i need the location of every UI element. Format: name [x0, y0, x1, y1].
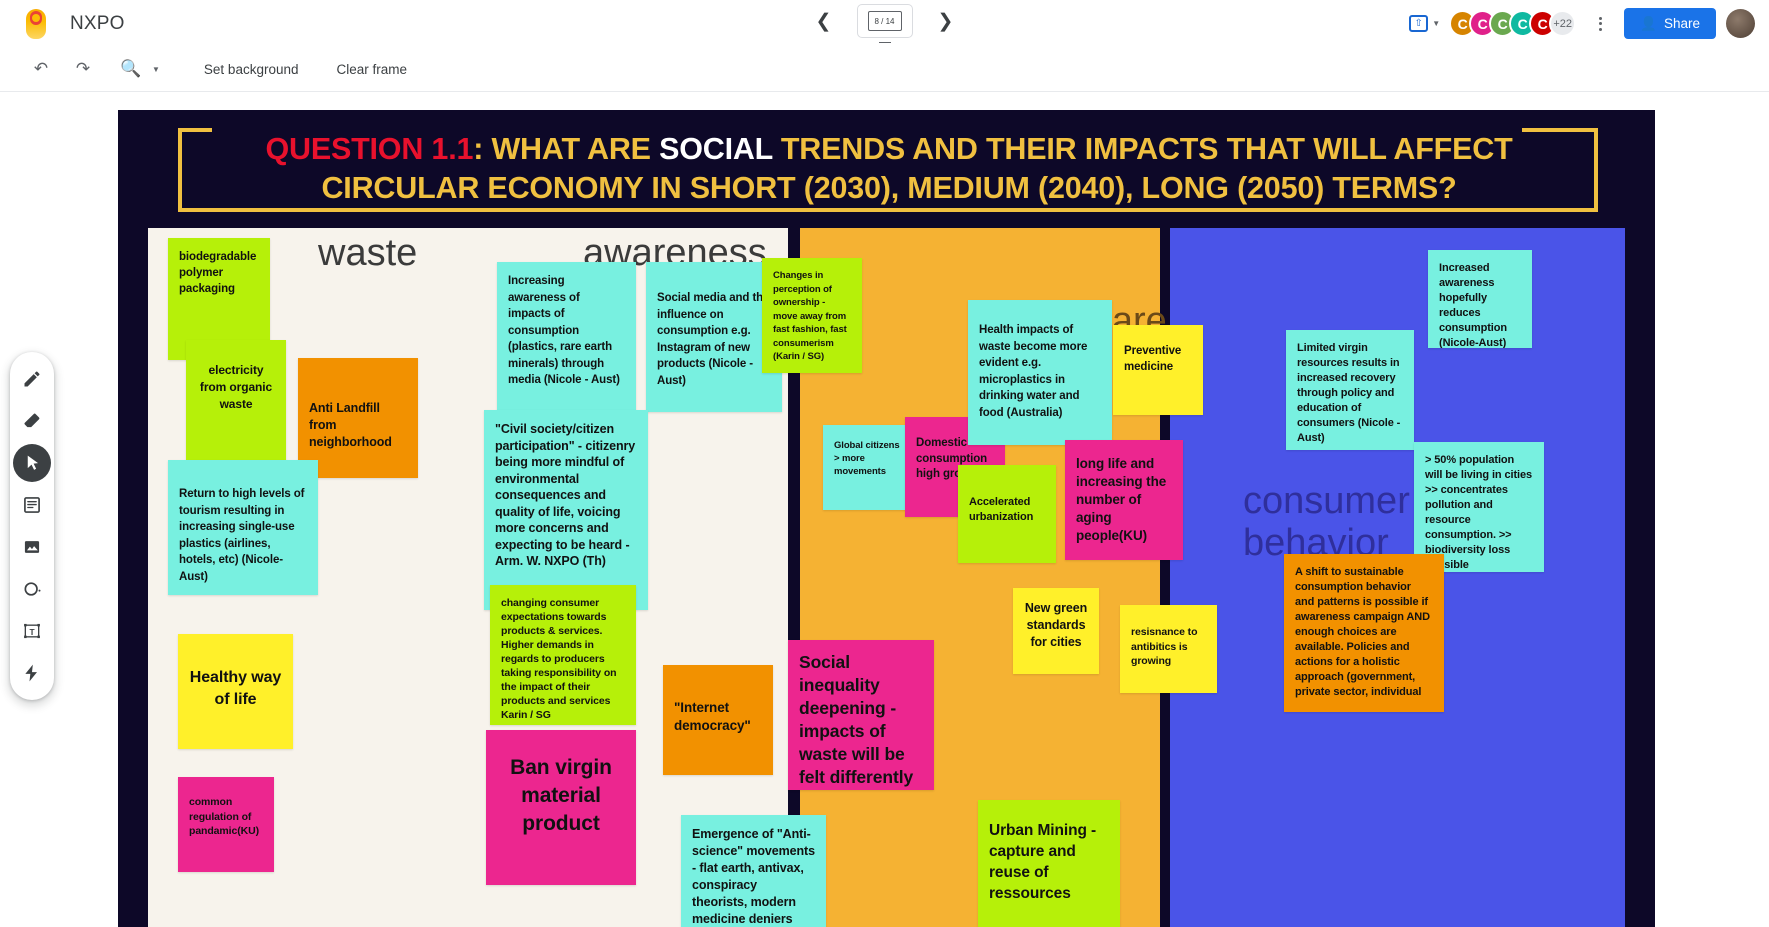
- frame-title: QUESTION 1.1: WHAT ARE SOCIAL TRENDS AND…: [184, 130, 1594, 208]
- image-icon: [22, 537, 42, 557]
- sticky-note[interactable]: Urban Mining - capture and reuse of ress…: [978, 800, 1120, 927]
- sticky-note-tool[interactable]: [13, 486, 51, 524]
- sticky-note[interactable]: > 50% population will be living in citie…: [1414, 442, 1544, 572]
- question-colon: : WHAT ARE: [473, 132, 659, 166]
- present-icon: ⇧: [1409, 15, 1428, 32]
- sticky-note-text: Changes in perception of ownership - mov…: [762, 258, 862, 373]
- sticky-note[interactable]: common regulation of pandamic(KU): [178, 777, 274, 872]
- sticky-note[interactable]: New green standards for cities: [1013, 588, 1099, 674]
- frame-counter-button[interactable]: 8 / 14: [857, 4, 913, 38]
- eraser-icon: [22, 411, 42, 431]
- set-background-button[interactable]: Set background: [192, 56, 311, 83]
- sticky-note-text: Limited virgin resources results in incr…: [1286, 330, 1414, 450]
- sticky-note-text: Increased awareness hopefully reduces co…: [1428, 250, 1532, 348]
- svg-text:T: T: [29, 627, 34, 637]
- sticky-note-text: A shift to sustainable consumption behav…: [1284, 554, 1444, 711]
- sticky-note[interactable]: Changes in perception of ownership - mov…: [762, 258, 862, 373]
- tool-rail: T: [10, 352, 54, 700]
- clear-frame-button[interactable]: Clear frame: [325, 56, 420, 83]
- question-highlight: SOCIAL: [659, 132, 772, 166]
- sticky-note-text: > 50% population will be living in citie…: [1414, 442, 1544, 572]
- sticky-note[interactable]: electricity from organic waste: [186, 340, 286, 474]
- person-add-icon: 👤: [1640, 16, 1657, 32]
- sticky-note[interactable]: A shift to sustainable consumption behav…: [1284, 554, 1444, 712]
- share-button-label: Share: [1664, 16, 1700, 31]
- redo-icon[interactable]: ↷: [66, 52, 100, 86]
- kebab-menu-icon[interactable]: [1586, 10, 1614, 38]
- sticky-note[interactable]: changing consumer expectations towards p…: [490, 585, 636, 725]
- text-box-icon: T: [22, 621, 42, 641]
- pen-tool[interactable]: [13, 360, 51, 398]
- sticky-note-text: biodegradable polymer packaging: [168, 238, 270, 308]
- circle-shape-icon: [22, 579, 42, 599]
- shape-tool[interactable]: [13, 570, 51, 608]
- previous-frame-button[interactable]: ❮: [809, 6, 839, 36]
- sticky-note-text: Healthy way of life: [178, 634, 293, 722]
- frame-title-band: QUESTION 1.1: WHAT ARE SOCIAL TRENDS AND…: [118, 110, 1655, 228]
- sticky-note[interactable]: Health impacts of waste become more evid…: [968, 300, 1112, 445]
- sticky-note-text: "Internet democracy": [663, 665, 773, 746]
- sticky-note-text: resisnance to antibitics is growing: [1120, 605, 1217, 680]
- present-button[interactable]: ⇧ ▼: [1403, 11, 1446, 36]
- frame-navigation: ❮ 8 / 14 ❯: [809, 4, 961, 38]
- text-box-tool[interactable]: T: [13, 612, 51, 650]
- sticky-note[interactable]: "Civil society/citizen participation" - …: [484, 410, 648, 610]
- undo-icon[interactable]: ↶: [24, 52, 58, 86]
- sticky-note-text: Urban Mining - capture and reuse of ress…: [978, 800, 1120, 915]
- sticky-note-text: Anti Landfill from neighborhood: [298, 358, 418, 462]
- sticky-note[interactable]: Healthy way of life: [178, 634, 293, 749]
- sticky-note-text: Emergence of "Anti-science" movements - …: [681, 815, 826, 927]
- heading-consumer-behavior[interactable]: consumerbehavior: [1243, 480, 1443, 564]
- secondary-toolbar: ↶ ↷ 🔍 ▼ Set background Clear frame: [0, 47, 1769, 92]
- top-bar-right-cluster: ⇧ ▼ C C C C C +22 👤 Share: [1403, 0, 1755, 47]
- laser-tool[interactable]: [13, 654, 51, 692]
- jamboard-logo-icon: [20, 7, 54, 41]
- top-bar: NXPO ❮ 8 / 14 ❯ ⇧ ▼ C C C C C +22 👤 Shar…: [0, 0, 1769, 47]
- sticky-note[interactable]: Accelerated urbanization: [958, 465, 1056, 563]
- sticky-note-icon: [22, 495, 42, 515]
- sticky-note[interactable]: resisnance to antibitics is growing: [1120, 605, 1217, 693]
- sticky-note[interactable]: Social inequality deepening - impacts of…: [788, 640, 934, 790]
- sticky-note-text: Global citizens > more movements: [823, 425, 911, 489]
- chevron-down-icon: ▼: [1432, 19, 1440, 28]
- collaborator-avatars[interactable]: C C C C C +22: [1456, 10, 1576, 37]
- sticky-note[interactable]: "Internet democracy": [663, 665, 773, 775]
- sticky-note-text: Ban virgin material product: [486, 730, 636, 849]
- sticky-note[interactable]: long life and increasing the number of a…: [1065, 440, 1183, 560]
- frame-counter-label: 8 / 14: [868, 11, 902, 31]
- question-number: QUESTION 1.1: [265, 132, 473, 166]
- sticky-note-text: Health impacts of waste become more evid…: [968, 300, 1112, 432]
- frame-pill-tail: [879, 37, 891, 43]
- sticky-note[interactable]: Increased awareness hopefully reduces co…: [1428, 250, 1532, 348]
- sticky-note[interactable]: Increasing awareness of impacts of consu…: [497, 262, 636, 412]
- sticky-note-text: Preventive medicine: [1113, 325, 1203, 386]
- share-button[interactable]: 👤 Share: [1624, 8, 1716, 39]
- sticky-note-text: "Civil society/citizen participation" - …: [484, 410, 648, 581]
- sticky-note-text: electricity from organic waste: [186, 340, 286, 424]
- next-frame-button[interactable]: ❯: [931, 6, 961, 36]
- zoom-icon[interactable]: 🔍: [114, 52, 148, 86]
- jam-canvas[interactable]: QUESTION 1.1: WHAT ARE SOCIAL TRENDS AND…: [0, 92, 1769, 927]
- eraser-tool[interactable]: [13, 402, 51, 440]
- sticky-note[interactable]: Return to high levels of tourism resulti…: [168, 460, 318, 595]
- sticky-note[interactable]: Emergence of "Anti-science" movements - …: [681, 815, 826, 927]
- sticky-note[interactable]: Global citizens > more movements: [823, 425, 911, 510]
- user-avatar[interactable]: [1726, 9, 1755, 38]
- document-title[interactable]: NXPO: [70, 13, 125, 35]
- select-tool[interactable]: [13, 444, 51, 482]
- laser-pointer-icon: [22, 663, 42, 683]
- cursor-arrow-icon: [23, 454, 42, 473]
- jam-frame[interactable]: QUESTION 1.1: WHAT ARE SOCIAL TRENDS AND…: [118, 110, 1655, 927]
- sticky-note-text: changing consumer expectations towards p…: [490, 585, 636, 725]
- sticky-note-text: Return to high levels of tourism resulti…: [168, 460, 318, 595]
- sticky-note-text: Accelerated urbanization: [958, 465, 1056, 536]
- collaborator-overflow-count[interactable]: +22: [1549, 10, 1576, 37]
- sticky-note-text: common regulation of pandamic(KU): [178, 777, 274, 850]
- sticky-note-text: Increasing awareness of impacts of consu…: [497, 262, 636, 400]
- sticky-note-text: Social inequality deepening - impacts of…: [788, 640, 934, 790]
- sticky-note[interactable]: Ban virgin material product: [486, 730, 636, 885]
- sticky-note[interactable]: Preventive medicine: [1113, 325, 1203, 415]
- sticky-note-text: long life and increasing the number of a…: [1065, 440, 1183, 556]
- image-tool[interactable]: [13, 528, 51, 566]
- sticky-note[interactable]: Limited virgin resources results in incr…: [1286, 330, 1414, 450]
- chevron-down-icon[interactable]: ▼: [152, 65, 160, 74]
- sticky-note-text: New green standards for cities: [1013, 588, 1099, 662]
- pen-icon: [22, 369, 42, 389]
- heading-waste[interactable]: waste: [318, 232, 417, 275]
